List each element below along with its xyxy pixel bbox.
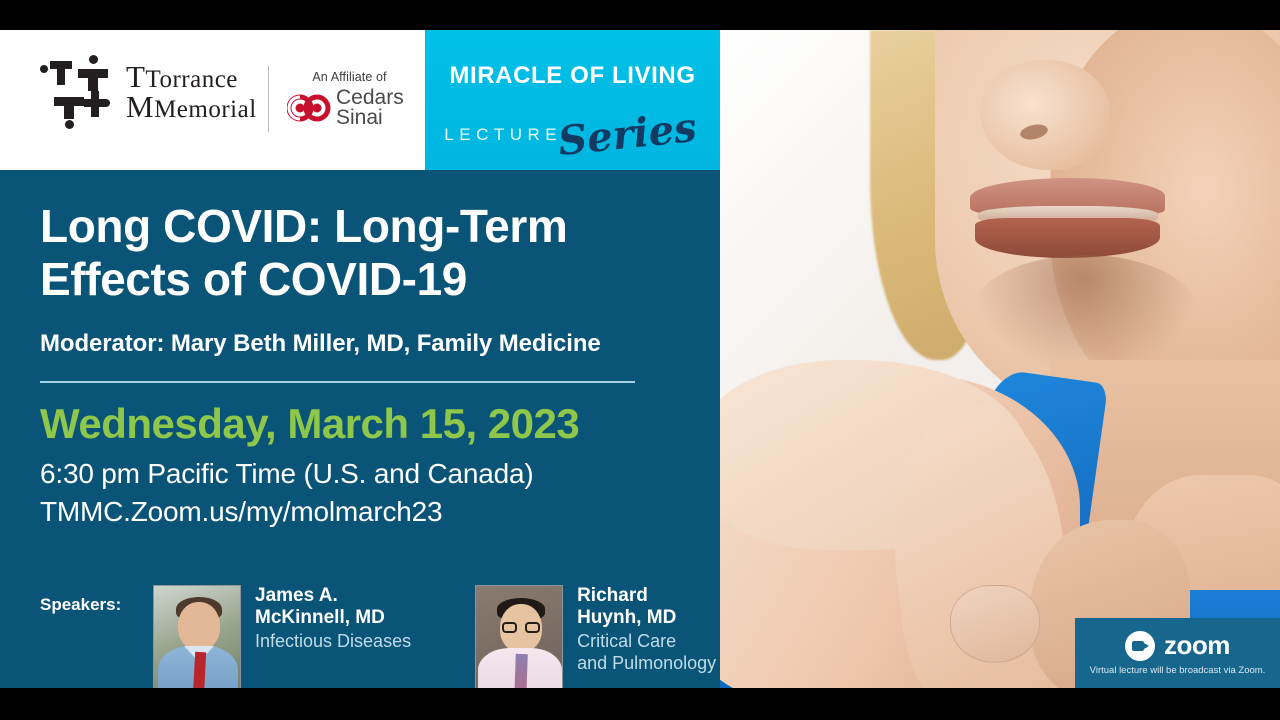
affiliate-name-line2: Sinai [336, 108, 404, 128]
event-url[interactable]: TMMC.Zoom.us/my/molmarch23 [40, 496, 442, 528]
series-subtitle-word: LECTURE [444, 125, 562, 144]
speaker-name-line1: Richard [577, 585, 716, 607]
org-line2: Memorial [154, 96, 257, 123]
series-title: MIRACLE OF LIVING [425, 62, 720, 90]
zoom-camera-icon [1125, 631, 1155, 661]
speakers-section: Speakers: James A. McKinnell, MD Infecti… [40, 585, 716, 688]
horizontal-divider [40, 381, 635, 383]
event-date: Wednesday, March 15, 2023 [40, 400, 579, 448]
cedars-sinai-infinity-icon [287, 93, 331, 123]
speaker-name-line2: McKinnell, MD [255, 607, 411, 629]
speaker-specialty-line1: Critical Care [577, 631, 716, 652]
affiliate-label: An Affiliate of [287, 70, 412, 84]
speaker-specialty-line2: and Pulmonology [577, 653, 716, 674]
letterbox-bar-top [0, 0, 1280, 30]
person-coughing-photo: zoom Virtual lecture will be broadcast v… [720, 30, 1280, 688]
speaker-name-line2: Huynh, MD [577, 607, 716, 629]
title-line-1: Long COVID: Long-Term [40, 200, 680, 253]
miracle-of-living-banner: MIRACLE OF LIVING LECTURESeries [425, 30, 720, 170]
zoom-broadcast-badge: zoom Virtual lecture will be broadcast v… [1075, 618, 1280, 688]
presentation-slide: TTorrance MMemorial An Affiliate of [0, 30, 1280, 688]
speaker-card: James A. McKinnell, MD Infectious Diseas… [153, 585, 411, 688]
speaker-specialty-line1: Infectious Diseases [255, 631, 411, 652]
title-line-2: Effects of COVID-19 [40, 253, 680, 306]
torrance-memorial-logo: TTorrance MMemorial [38, 55, 257, 129]
slide-stage: TTorrance MMemorial An Affiliate of [0, 0, 1280, 720]
affiliate-name-line1: Cedars [336, 88, 404, 108]
speaker-headshot-photo [153, 585, 241, 688]
org-line1: Torrance [145, 66, 237, 93]
speaker-card: Richard Huynh, MD Critical Care and Pulm… [475, 585, 716, 688]
page-title: Long COVID: Long-Term Effects of COVID-1… [40, 200, 680, 307]
torrance-memorial-people-mark-icon [38, 55, 112, 129]
letterbox-bar-bottom [0, 688, 1280, 720]
slide-body: Long COVID: Long-Term Effects of COVID-1… [0, 170, 720, 688]
logo-divider [268, 66, 269, 132]
torrance-memorial-wordmark: TTorrance MMemorial [126, 62, 257, 122]
zoom-wordmark: zoom [1164, 630, 1230, 661]
moderator-line: Moderator: Mary Beth Miller, MD, Family … [40, 330, 700, 358]
cedars-sinai-affiliate-block: An Affiliate of Cedars Sinai [287, 70, 412, 127]
series-script-word: Series [556, 104, 699, 165]
speakers-label: Speakers: [40, 585, 153, 615]
event-time: 6:30 pm Pacific Time (U.S. and Canada) [40, 458, 534, 490]
speaker-headshot-photo [475, 585, 563, 688]
org-line2-initial: M [126, 89, 154, 124]
speaker-name-line1: James A. [255, 585, 411, 607]
zoom-badge-caption: Virtual lecture will be broadcast via Zo… [1075, 665, 1280, 676]
